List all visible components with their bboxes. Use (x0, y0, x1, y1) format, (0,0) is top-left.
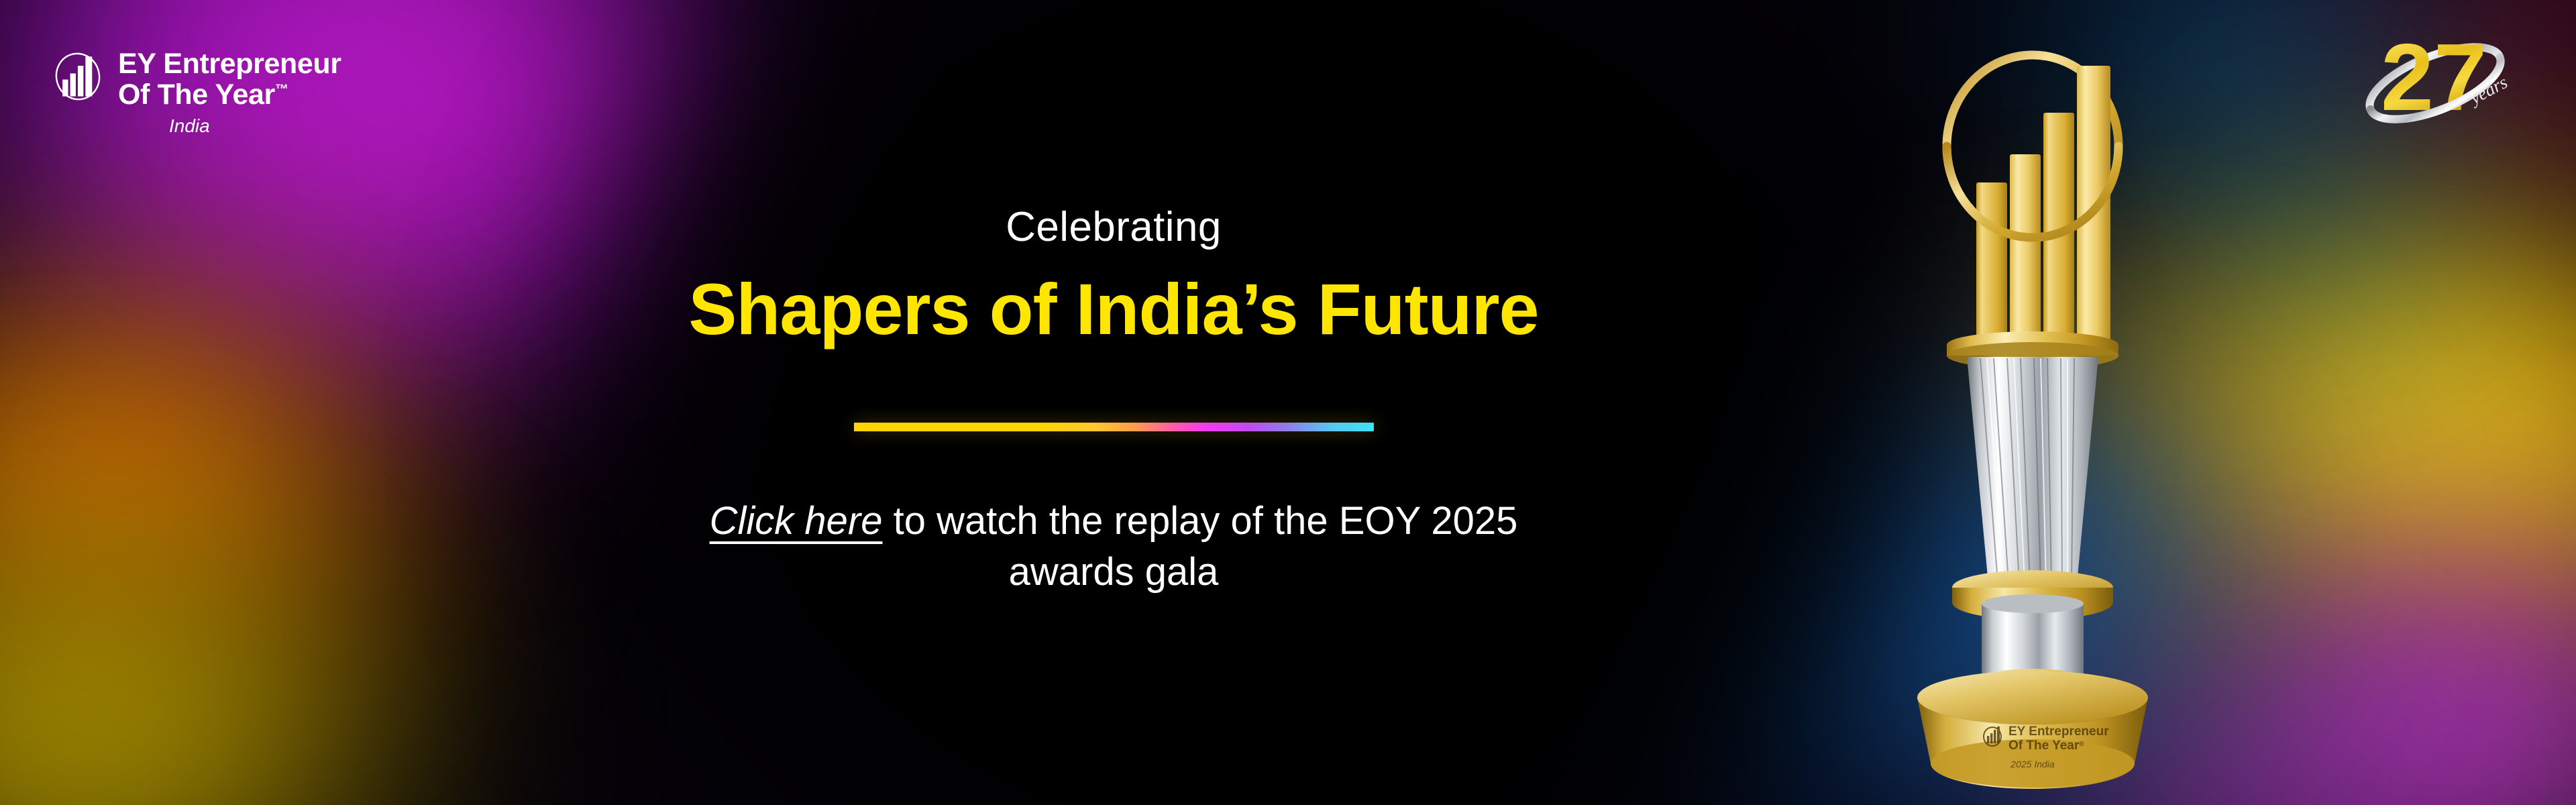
trademark-symbol: ™ (275, 83, 288, 97)
ey-logo-line-1: EY Entrepreneur (118, 48, 341, 79)
trophy-base-line-2: Of The Year® (2008, 739, 2084, 753)
ey-beam-bars-icon (52, 51, 103, 102)
eoy-india-promo-banner: EY Entrepreneur Of The Year™ India (0, 0, 2576, 805)
ey-logo-lockup[interactable]: EY Entrepreneur Of The Year™ (52, 48, 341, 110)
cta-text: Click here to watch the replay of the EO… (678, 496, 1550, 598)
page-title: Shapers of India’s Future (688, 271, 1538, 347)
trophy-base-line-3: 2025 India (2010, 759, 2055, 769)
watch-replay-link[interactable]: Click here (710, 499, 883, 543)
banner-copy-block: Celebrating Shapers of India’s Future Cl… (483, 0, 1744, 805)
ey-logo-line-2: Of The Year™ (118, 79, 341, 110)
27-years-swoosh-badge-icon: 27 years (2334, 16, 2536, 144)
gradient-rule-divider (854, 423, 1374, 431)
ey-logo-region-label: India (169, 115, 210, 137)
kicker-text: Celebrating (1006, 207, 1221, 248)
ey-logo-wordmark: EY Entrepreneur Of The Year™ (118, 48, 341, 110)
ey-logo-line-2-text: Of The Year (118, 78, 275, 111)
trophy-base-line-1: EY Entrepreneur (2008, 724, 2109, 739)
ey-award-trophy-icon: EY Entrepreneur Of The Year® 2025 India (1892, 27, 2173, 805)
cta-rest-text: to watch the replay of the EOY 2025 awar… (882, 499, 1517, 594)
